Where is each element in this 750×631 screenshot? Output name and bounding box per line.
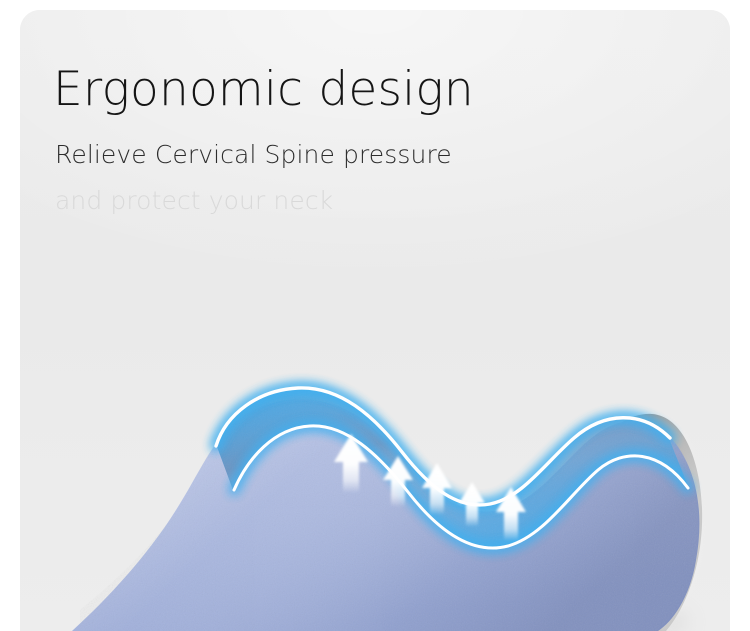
headline-block: Ergonomic design Relieve Cervical Spine … (53, 62, 673, 230)
page-subtitle-clipped: and protect your neck (55, 185, 673, 216)
product-feature-page: Ergonomic design Relieve Cervical Spine … (0, 0, 750, 631)
pillow-body (20, 370, 730, 631)
page-subtitle: Relieve Cervical Spine pressure (55, 139, 673, 170)
pillow-fabric-texture (20, 370, 730, 631)
page-title: Ergonomic design (53, 62, 673, 117)
feature-card: Ergonomic design Relieve Cervical Spine … (20, 10, 730, 631)
